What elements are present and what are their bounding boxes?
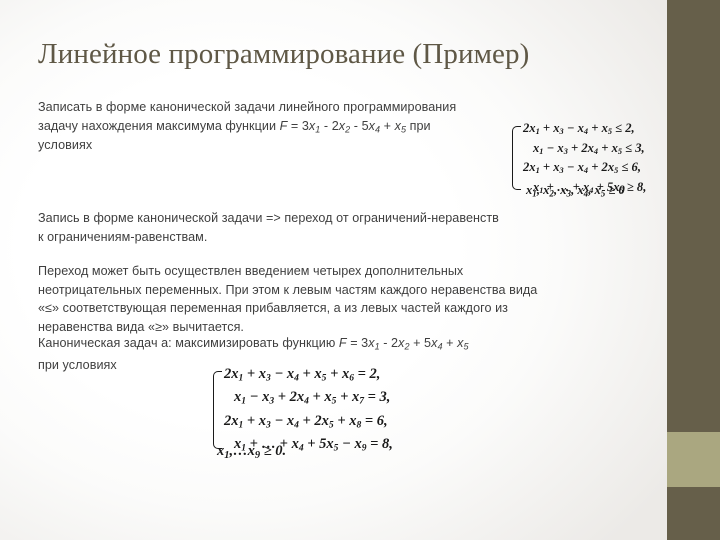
p4-op-2: + 5	[410, 336, 432, 350]
p4-symbol-F: F	[339, 336, 347, 350]
math-block-equations: 2x1 + x3 − x4 + x5 + x6 = 2,x1 − x3 + 2x…	[213, 363, 393, 456]
left-brace-icon	[512, 119, 521, 198]
math-row: x1 − x3 + 2x4 + x5 + x7 = 3,	[224, 386, 393, 409]
paragraph-transition-explanation: Переход может быть осуществлен введением…	[38, 262, 538, 336]
p4-text-a: Каноническая задач а: максимизировать фу…	[38, 336, 339, 350]
decor-sidebar-light	[667, 432, 720, 487]
math-row: 2x1 + x3 − x4 + x5 + x6 = 2,	[224, 363, 393, 386]
paragraph-conditions-label: при условиях	[38, 356, 198, 375]
p4-op-1: - 2	[380, 336, 398, 350]
decor-sidebar-dark-top	[667, 0, 720, 432]
p1-op-3: +	[380, 119, 395, 133]
p1-op-2: - 5	[350, 119, 368, 133]
decor-sidebar-dark-bottom	[667, 487, 720, 540]
math-row: 2x1 + x3 − x4 + 2x5 ≤ 6,	[523, 158, 646, 178]
slide-canvas: Линейное программирование (Пример) Запис…	[0, 0, 720, 540]
p4-sub-5: 5	[463, 342, 468, 352]
math-block-inequalities: 2x1 + x3 − x4 + x5 ≤ 2,x1 − x3 + 2x4 + x…	[512, 119, 646, 198]
math-row: x1 − x3 + 2x4 + x5 ≤ 3,	[523, 139, 646, 159]
paragraph-canonical-objective: Каноническая задач а: максимизировать фу…	[38, 334, 543, 354]
page-title: Линейное программирование (Пример)	[38, 38, 638, 71]
math1-nonnegativity-row: x1, x2, x3, x4, x5 ≥ 0	[526, 183, 625, 199]
p1-op-1: - 2	[320, 119, 338, 133]
paragraph-problem-statement: Записать в форме канонической задачи лин…	[38, 98, 486, 155]
math-row: 2x1 + x3 − x4 + 2x5 + x8 = 6,	[224, 410, 393, 433]
math2-nonnegativity-row: x1,…x9 ≥ 0.	[217, 443, 286, 461]
p1-eq: = 3	[287, 119, 309, 133]
p4-eq: = 3	[347, 336, 369, 350]
math-row: 2x1 + x3 − x4 + x5 ≤ 2,	[523, 119, 646, 139]
paragraph-canonical-note: Запись в форме канонической задачи => пе…	[38, 209, 508, 246]
p4-op-3: +	[443, 336, 458, 350]
